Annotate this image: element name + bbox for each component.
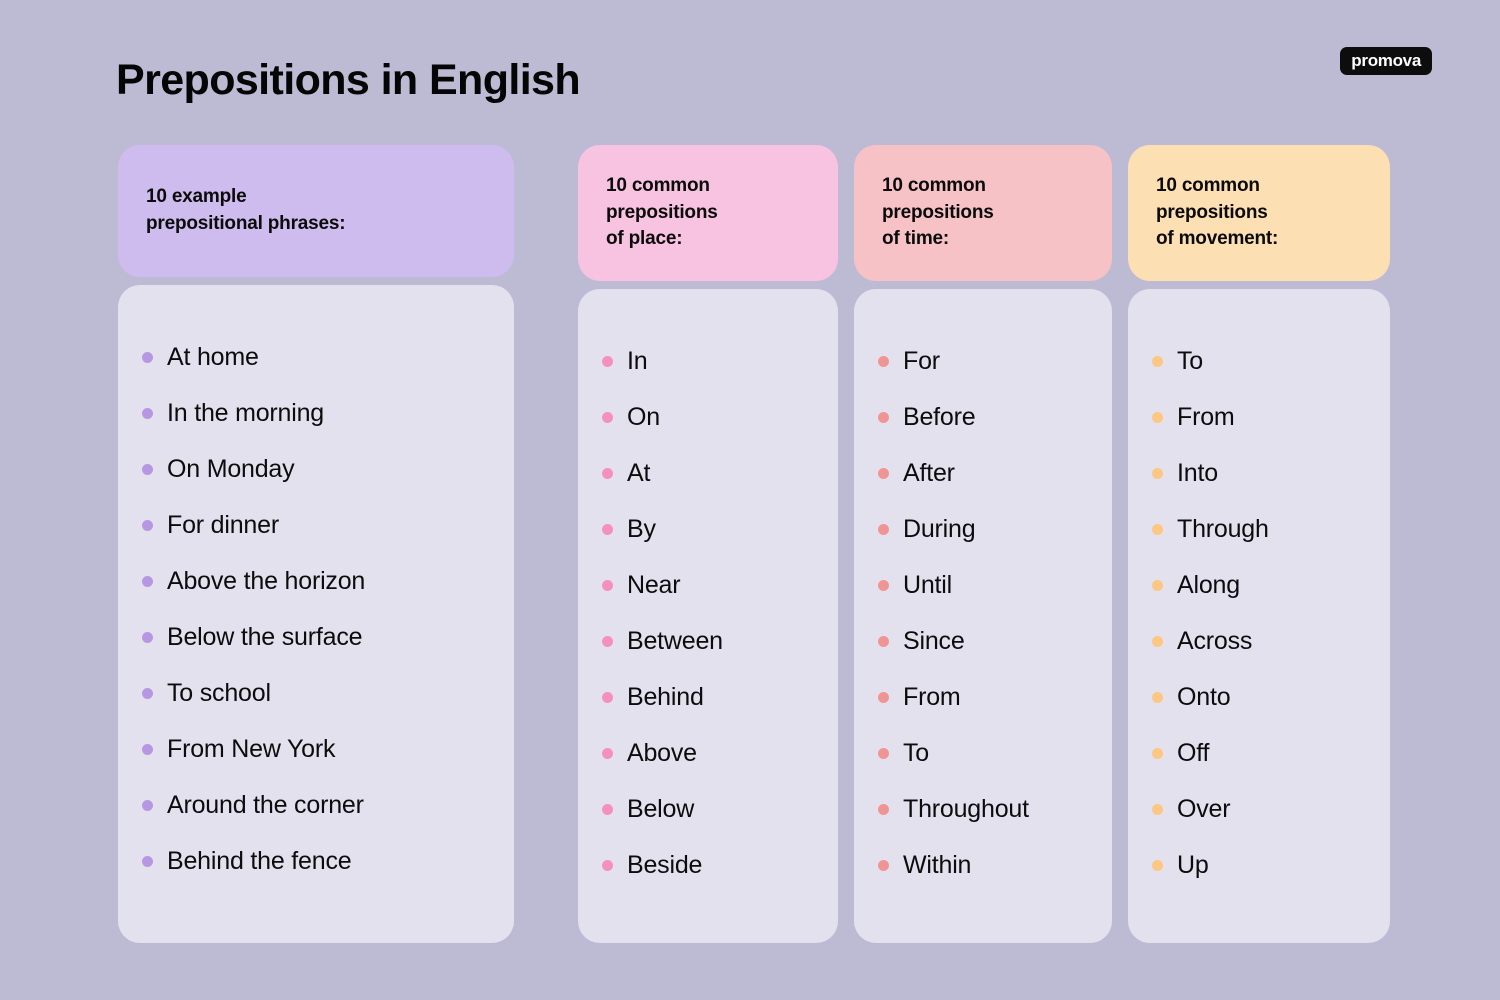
list-item: From <box>878 669 1088 725</box>
list-item: In <box>602 333 814 389</box>
list-item: Off <box>1152 725 1366 781</box>
list-item: For <box>878 333 1088 389</box>
bullet-icon <box>1152 692 1163 703</box>
bullet-icon <box>142 520 153 531</box>
list-item: Through <box>1152 501 1366 557</box>
bullet-icon <box>142 856 153 867</box>
list-prepositions-of-time: For Before After During Until Since From… <box>878 333 1088 893</box>
column-body-example-phrases: At home In the morning On Monday For din… <box>118 285 514 943</box>
page-title: Prepositions in English <box>116 56 580 105</box>
list-item-label: Throughout <box>903 795 1029 824</box>
bullet-icon <box>602 580 613 591</box>
list-item-label: Between <box>627 627 723 656</box>
column-header-prepositions-of-movement: 10 common prepositions of movement: <box>1128 145 1390 281</box>
list-item-label: On <box>627 403 660 432</box>
list-item-label: Above <box>627 739 697 768</box>
list-item-label: Below the surface <box>167 623 362 652</box>
column-prepositions-of-movement: 10 common prepositions of movement: To F… <box>1128 145 1390 943</box>
list-item: Above <box>602 725 814 781</box>
column-prepositions-of-time: 10 common prepositions of time: For Befo… <box>854 145 1112 943</box>
list-item-label: Through <box>1177 515 1269 544</box>
list-item-label: After <box>903 459 955 488</box>
list-item: Throughout <box>878 781 1088 837</box>
list-item-label: Along <box>1177 571 1240 600</box>
bullet-icon <box>878 356 889 367</box>
bullet-icon <box>142 576 153 587</box>
list-item: For dinner <box>142 497 490 553</box>
list-item-label: Above the horizon <box>167 567 365 596</box>
list-item: Below <box>602 781 814 837</box>
list-item-label: Below <box>627 795 694 824</box>
bullet-icon <box>1152 412 1163 423</box>
list-item: Behind the fence <box>142 833 490 889</box>
bullet-icon <box>602 468 613 479</box>
list-item-label: Across <box>1177 627 1252 656</box>
list-item: In the morning <box>142 385 490 441</box>
bullet-icon <box>142 464 153 475</box>
list-item: During <box>878 501 1088 557</box>
list-item: Below the surface <box>142 609 490 665</box>
list-item-label: For <box>903 347 940 376</box>
bullet-icon <box>142 744 153 755</box>
list-item: At home <box>142 329 490 385</box>
column-prepositions-of-place: 10 common prepositions of place: In On A… <box>578 145 838 943</box>
bullet-icon <box>1152 356 1163 367</box>
list-item-label: From New York <box>167 735 335 764</box>
list-item: Above the horizon <box>142 553 490 609</box>
bullet-icon <box>878 804 889 815</box>
bullet-icon <box>602 804 613 815</box>
list-item-label: Until <box>903 571 952 600</box>
list-item: Beside <box>602 837 814 893</box>
list-item-label: Since <box>903 627 965 656</box>
list-item-label: Within <box>903 851 971 880</box>
list-item-label: During <box>903 515 975 544</box>
bullet-icon <box>602 524 613 535</box>
bullet-icon <box>142 408 153 419</box>
column-header-prepositions-of-time: 10 common prepositions of time: <box>854 145 1112 281</box>
bullet-icon <box>602 356 613 367</box>
list-item: Near <box>602 557 814 613</box>
bullet-icon <box>602 636 613 647</box>
list-item-label: On Monday <box>167 455 294 484</box>
list-item-label: At home <box>167 343 259 372</box>
list-item: To <box>878 725 1088 781</box>
bullet-icon <box>602 748 613 759</box>
list-item: Over <box>1152 781 1366 837</box>
list-item-label: Up <box>1177 851 1209 880</box>
list-item: Onto <box>1152 669 1366 725</box>
bullet-icon <box>878 748 889 759</box>
bullet-icon <box>1152 804 1163 815</box>
bullet-icon <box>602 412 613 423</box>
list-item: On <box>602 389 814 445</box>
bullet-icon <box>878 692 889 703</box>
bullet-icon <box>1152 580 1163 591</box>
list-item: Until <box>878 557 1088 613</box>
column-header-example-phrases: 10 example prepositional phrases: <box>118 145 514 277</box>
page-header: Prepositions in English promova <box>0 0 1500 145</box>
list-item: Before <box>878 389 1088 445</box>
list-item-label: Beside <box>627 851 702 880</box>
list-item: To school <box>142 665 490 721</box>
list-item: On Monday <box>142 441 490 497</box>
bullet-icon <box>142 800 153 811</box>
list-item-label: From <box>903 683 961 712</box>
list-item-label: Off <box>1177 739 1209 768</box>
bullet-icon <box>1152 524 1163 535</box>
list-item-label: Behind the fence <box>167 847 351 876</box>
list-item: After <box>878 445 1088 501</box>
list-item-label: By <box>627 515 656 544</box>
list-item-label: To school <box>167 679 271 708</box>
list-item-label: Behind <box>627 683 704 712</box>
prepositions-columns: 10 example prepositional phrases: At hom… <box>118 145 1390 945</box>
list-prepositions-of-movement: To From Into Through Along Across Onto O… <box>1152 333 1366 893</box>
list-item-label: Onto <box>1177 683 1230 712</box>
bullet-icon <box>142 632 153 643</box>
list-example-phrases: At home In the morning On Monday For din… <box>142 329 490 889</box>
list-item-label: In the morning <box>167 399 324 428</box>
list-item: Within <box>878 837 1088 893</box>
list-item: From New York <box>142 721 490 777</box>
bullet-icon <box>878 468 889 479</box>
list-item: To <box>1152 333 1366 389</box>
list-item: Between <box>602 613 814 669</box>
column-body-prepositions-of-time: For Before After During Until Since From… <box>854 289 1112 943</box>
bullet-icon <box>1152 468 1163 479</box>
bullet-icon <box>602 692 613 703</box>
bullet-icon <box>1152 860 1163 871</box>
list-item: Up <box>1152 837 1366 893</box>
list-item-label: At <box>627 459 650 488</box>
list-item-label: To <box>1177 347 1203 376</box>
list-item: Around the corner <box>142 777 490 833</box>
list-item: Across <box>1152 613 1366 669</box>
bullet-icon <box>878 524 889 535</box>
list-item-label: In <box>627 347 647 376</box>
column-body-prepositions-of-movement: To From Into Through Along Across Onto O… <box>1128 289 1390 943</box>
column-body-prepositions-of-place: In On At By Near Between Behind Above Be… <box>578 289 838 943</box>
list-prepositions-of-place: In On At By Near Between Behind Above Be… <box>602 333 814 893</box>
list-item: Behind <box>602 669 814 725</box>
list-item-label: Around the corner <box>167 791 364 820</box>
bullet-icon <box>1152 748 1163 759</box>
list-item: Into <box>1152 445 1366 501</box>
bullet-icon <box>878 412 889 423</box>
column-header-prepositions-of-place: 10 common prepositions of place: <box>578 145 838 281</box>
bullet-icon <box>878 860 889 871</box>
bullet-icon <box>878 636 889 647</box>
bullet-icon <box>142 688 153 699</box>
list-item: At <box>602 445 814 501</box>
list-item: By <box>602 501 814 557</box>
list-item-label: Over <box>1177 795 1230 824</box>
list-item-label: Into <box>1177 459 1218 488</box>
promova-logo: promova <box>1340 47 1432 75</box>
bullet-icon <box>142 352 153 363</box>
list-item-label: Near <box>627 571 680 600</box>
bullet-icon <box>878 580 889 591</box>
list-item: From <box>1152 389 1366 445</box>
bullet-icon <box>602 860 613 871</box>
list-item-label: From <box>1177 403 1235 432</box>
bullet-icon <box>1152 636 1163 647</box>
list-item: Since <box>878 613 1088 669</box>
column-example-phrases: 10 example prepositional phrases: At hom… <box>118 145 514 943</box>
list-item-label: Before <box>903 403 975 432</box>
list-item: Along <box>1152 557 1366 613</box>
list-item-label: To <box>903 739 929 768</box>
list-item-label: For dinner <box>167 511 279 540</box>
